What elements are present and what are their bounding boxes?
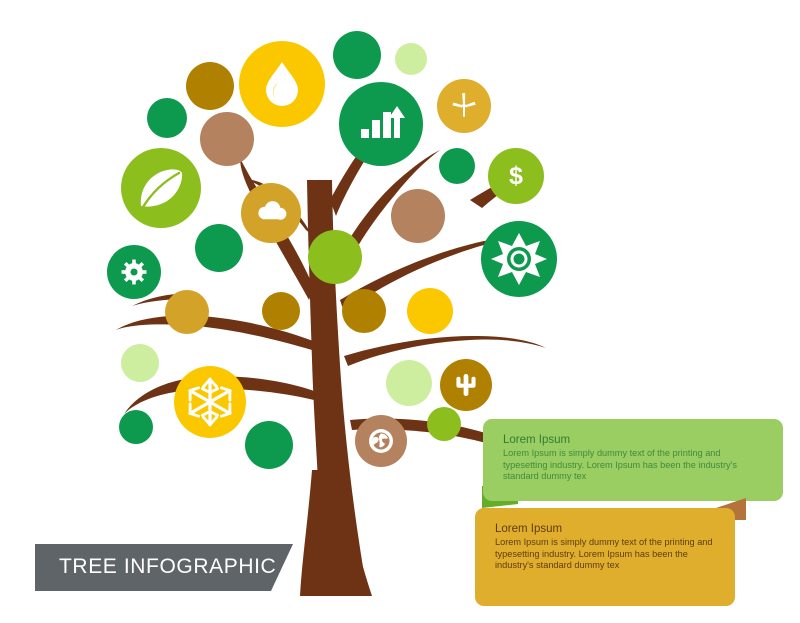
yellow-callout-box[interactable]: Lorem Ipsum Lorem Ipsum is simply dummy … — [475, 508, 735, 606]
decor-circle — [333, 31, 381, 79]
sun-icon[interactable] — [481, 221, 557, 297]
decor-circle — [262, 292, 300, 330]
decor-circle — [342, 289, 386, 333]
gear-icon-glyph — [122, 260, 147, 285]
green-callout-box[interactable]: Lorem Ipsum Lorem Ipsum is simply dummy … — [483, 419, 783, 501]
cloud-icon[interactable] — [241, 183, 301, 243]
cactus-icon[interactable] — [440, 359, 492, 411]
title-banner: TREE INFOGRAPHIC — [35, 544, 293, 591]
bar-chart-growth-icon[interactable] — [339, 82, 423, 166]
green-callout-title: Lorem Ipsum — [503, 433, 765, 447]
decor-circle — [308, 230, 362, 284]
decor-circle — [195, 224, 243, 272]
globe-icon-glyph — [369, 429, 393, 453]
globe-icon[interactable] — [355, 415, 407, 467]
decor-circle — [439, 148, 475, 184]
yellow-callout-body: Lorem Ipsum is simply dummy text of the … — [495, 537, 717, 572]
decor-circle — [165, 290, 209, 334]
decor-circle — [121, 344, 159, 382]
decor-circle — [245, 421, 293, 469]
gear-icon[interactable] — [107, 245, 161, 299]
decor-circle — [427, 407, 461, 441]
decor-circle — [186, 62, 234, 110]
decor-circle — [391, 189, 445, 243]
decor-circle — [395, 43, 427, 75]
decor-circle — [200, 112, 254, 166]
wind-turbine-icon[interactable] — [437, 79, 491, 133]
dollar-sign-icon-glyph — [509, 162, 523, 190]
leaf-icon[interactable] — [121, 148, 201, 228]
page-title: TREE INFOGRAPHIC — [59, 555, 276, 579]
decor-circle — [147, 98, 187, 138]
dollar-sign-icon[interactable] — [488, 148, 544, 204]
bar-chart-growth-icon-bg — [339, 82, 423, 166]
yellow-callout-title: Lorem Ipsum — [495, 522, 717, 536]
snowflake-icon[interactable] — [174, 366, 246, 438]
decor-circle — [386, 360, 432, 406]
water-drop-icon[interactable] — [239, 41, 325, 127]
green-callout-body: Lorem Ipsum is simply dummy text of the … — [503, 448, 765, 483]
infographic-canvas: $ — [0, 0, 800, 623]
decor-circle — [407, 288, 453, 334]
decor-circle — [119, 410, 153, 444]
